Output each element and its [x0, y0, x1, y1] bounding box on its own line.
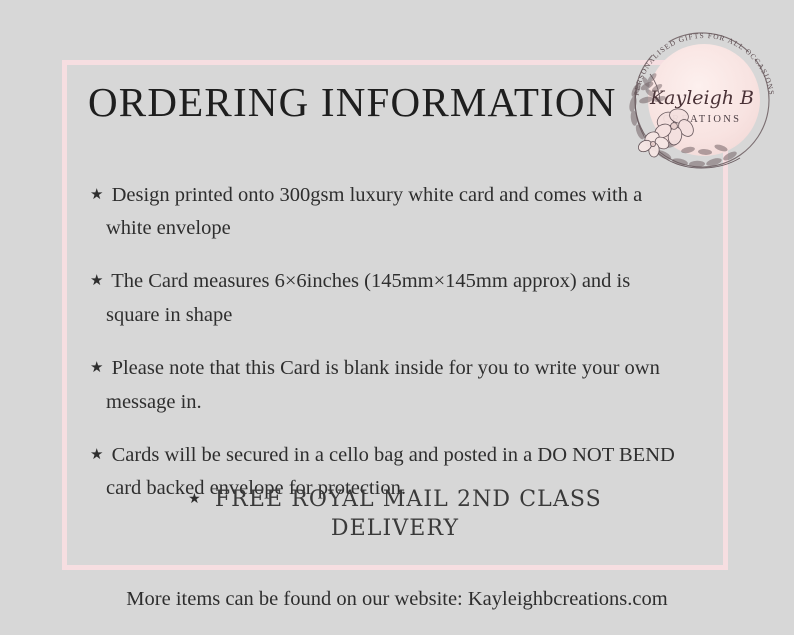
list-item-text: The Card measures 6×6inches (145mm×145mm…	[106, 270, 630, 325]
list-item-text: Design printed onto 300gsm luxury white …	[106, 184, 642, 239]
ordering-information-graphic: ORDERING INFORMATION ★ Design printed on…	[0, 0, 794, 635]
page-title: ORDERING INFORMATION	[88, 78, 617, 126]
delivery-line-1: FREE ROYAL MAIL 2ND CLASS	[215, 487, 602, 512]
star-bullet-icon: ★	[90, 447, 106, 463]
brand-logo: PERSONALISED GIFTS FOR ALL OCCASIONS Kay…	[616, 12, 788, 184]
list-item: ★ Design printed onto 300gsm luxury whit…	[90, 179, 680, 245]
delivery-callout: ★ FREE ROYAL MAIL 2ND CLASS DELIVERY	[62, 486, 728, 543]
star-bullet-icon: ★	[90, 273, 106, 289]
list-item: ★ Please note that this Card is blank in…	[90, 352, 680, 418]
ordering-details-list: ★ Design printed onto 300gsm luxury whit…	[90, 158, 680, 506]
list-item: ★ The Card measures 6×6inches (145mm×145…	[90, 265, 680, 331]
star-bullet-icon: ★	[90, 360, 106, 376]
star-bullet-icon: ★	[188, 491, 207, 507]
star-bullet-icon: ★	[90, 187, 106, 203]
website-footer: More items can be found on our website: …	[0, 588, 794, 611]
list-item-text: Please note that this Card is blank insi…	[106, 357, 660, 412]
delivery-line-2: DELIVERY	[62, 515, 728, 544]
